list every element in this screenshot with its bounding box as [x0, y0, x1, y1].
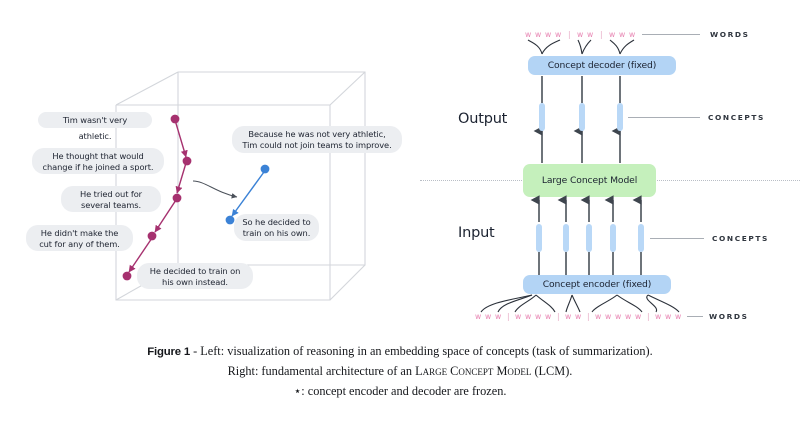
right-panel-lcm-architecture: w w w w | w w | w w w WORDS [420, 0, 800, 335]
left-panel-embedding-space: Tim wasn't very athletic. He thought tha… [0, 0, 420, 335]
list-item: Because he was not very athletic, Tim co… [232, 126, 402, 153]
word-separator: | [587, 312, 590, 321]
list-item: So he decided to train on his own. [234, 214, 319, 241]
word-token: w [605, 312, 611, 321]
side-label-words-bottom: WORDS [709, 312, 749, 321]
list-item: He decided to train on his own instead. [137, 263, 253, 289]
word-separator: | [647, 312, 650, 321]
caption-line-2-suffix: (LCM). [531, 364, 572, 378]
figure-caption: Figure 1 - Left: visualization of reason… [0, 342, 800, 402]
caption-line-1-text: - Left: visualization of reasoning in an… [190, 344, 653, 358]
caption-line-2: Right: fundamental architecture of an La… [0, 362, 800, 382]
word-token: w [565, 312, 571, 321]
word-token: w [515, 312, 521, 321]
encoder-fanin [420, 0, 800, 335]
word-token: w [525, 312, 531, 321]
figure-root: Tim wasn't very athletic. He thought tha… [0, 0, 800, 433]
word-separator: | [507, 312, 510, 321]
list-item: He thought that would change if he joine… [32, 148, 164, 174]
word-token: w [595, 312, 601, 321]
word-token: w [675, 312, 681, 321]
word-token: w [575, 312, 581, 321]
caption-model-name: Large Concept Model [415, 364, 531, 378]
list-item: He tried out for several teams. [61, 186, 161, 212]
list-item: Tim wasn't very athletic. [38, 112, 152, 128]
list-item: He didn't make the cut for any of them. [26, 225, 133, 251]
leader-line [687, 316, 703, 317]
word-token: w [635, 312, 641, 321]
figure-label: Figure 1 [147, 346, 190, 358]
word-token: w [665, 312, 671, 321]
caption-line-2-prefix: Right: fundamental architecture of an [228, 364, 415, 378]
word-token: w [475, 312, 481, 321]
word-token: w [625, 312, 631, 321]
word-token: w [655, 312, 661, 321]
caption-line-3: ⋆: concept encoder and decoder are froze… [0, 382, 800, 402]
word-token: w [495, 312, 501, 321]
caption-line-1: Figure 1 - Left: visualization of reason… [0, 342, 800, 362]
word-token: w [615, 312, 621, 321]
word-token: w [535, 312, 541, 321]
word-token: w [545, 312, 551, 321]
word-token: w [485, 312, 491, 321]
word-separator: | [557, 312, 560, 321]
